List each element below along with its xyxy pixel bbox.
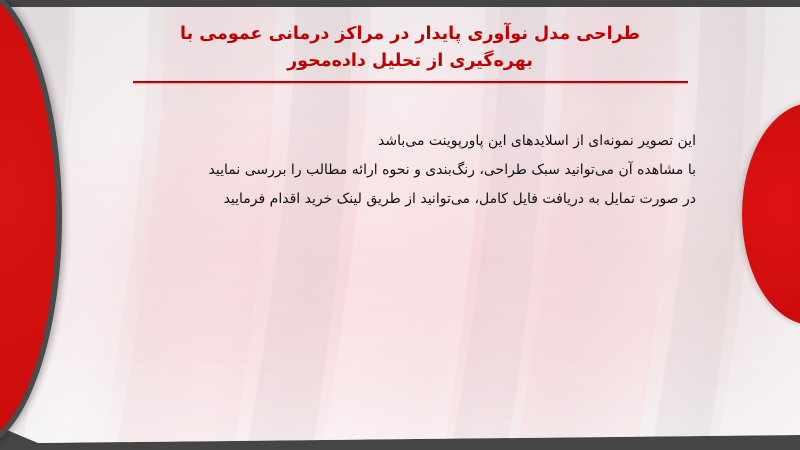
body-line-3: در صورت تمایل به دریافت فایل کامل، می‌تو…: [96, 185, 696, 214]
slide-body-text: این تصویر نمونه‌ای از اسلایدهای این پاور…: [96, 127, 696, 214]
title-line-2: بهره‌گیری از تحلیل داده‌محور: [100, 48, 720, 75]
body-line-2: با مشاهده آن می‌توانید سبک طراحی، رنگ‌بن…: [96, 156, 696, 185]
slide-canvas: طراحی مدل نوآوری پایدار در مراکز درمانی …: [0, 0, 800, 450]
body-line-1: این تصویر نمونه‌ای از اسلایدهای این پاور…: [96, 127, 696, 156]
title-underline-rule: [133, 81, 688, 83]
slide-title: طراحی مدل نوآوری پایدار در مراکز درمانی …: [100, 21, 720, 75]
slide-content-panel: طراحی مدل نوآوری پایدار در مراکز درمانی …: [0, 7, 800, 443]
title-line-1: طراحی مدل نوآوری پایدار در مراکز درمانی …: [100, 21, 720, 48]
decorative-right-ellipse: [742, 103, 800, 325]
